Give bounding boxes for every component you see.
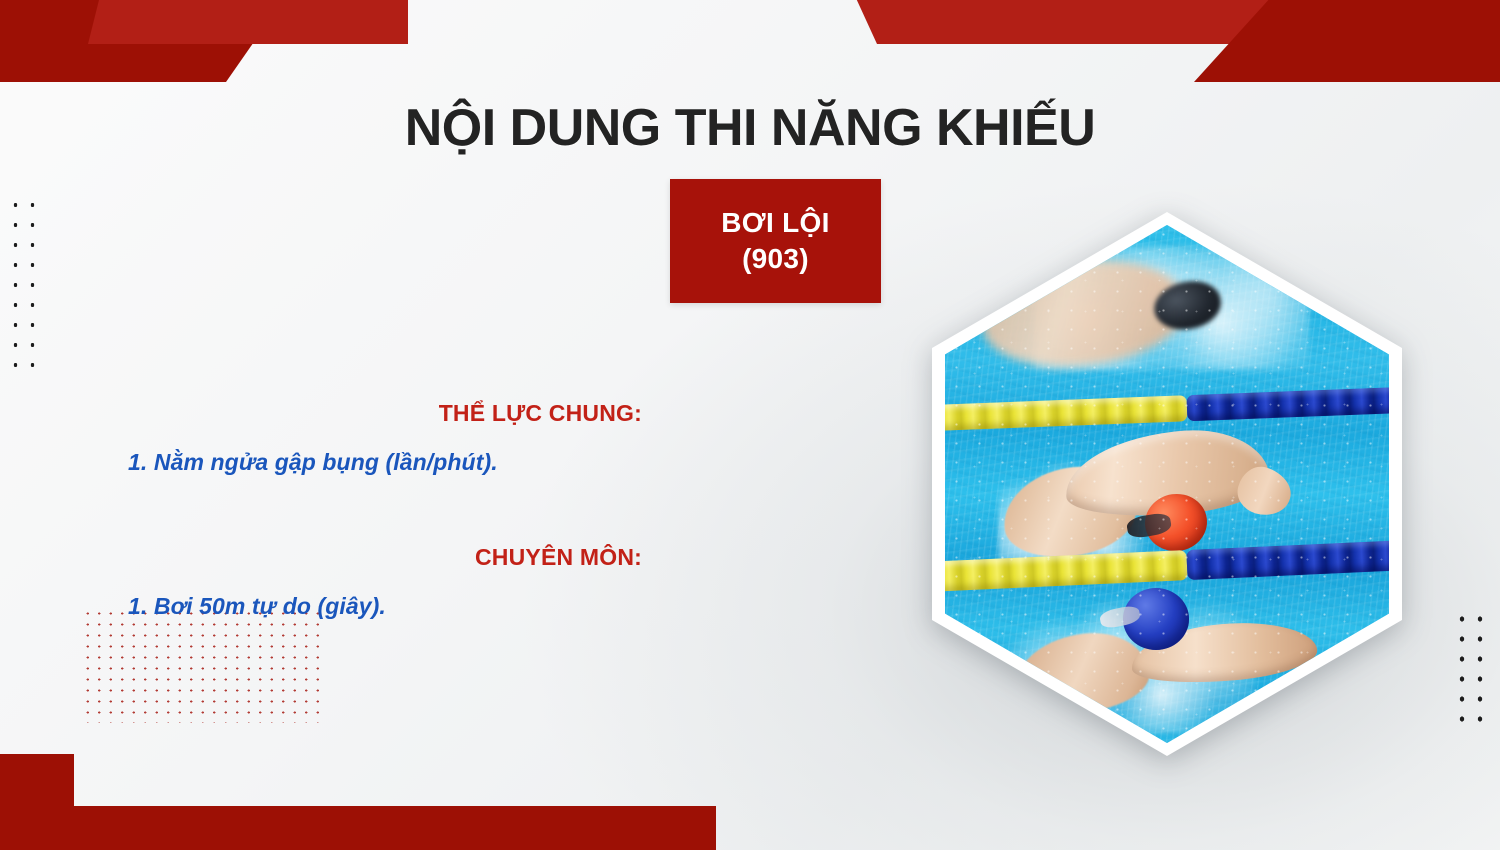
section-spacer <box>100 476 660 544</box>
slide-root: NỘI DUNG THI NĂNG KHIẾU BƠI LỘI (903) TH… <box>0 0 1500 850</box>
corner-shape-top-left-dark <box>0 0 286 82</box>
badge-sport-label: BƠI LỘI <box>721 207 829 239</box>
content-column: THỂ LỰC CHUNG: 1. Nằm ngửa gập bụng (lần… <box>100 400 660 620</box>
corner-shape-bottom-left-dark <box>0 754 716 850</box>
corner-shape-top-right-bright <box>855 0 1315 44</box>
dot-grid-left <box>4 192 36 378</box>
badge-code-label: (903) <box>742 243 809 275</box>
dot-grid-red-bottom-left <box>80 606 322 723</box>
list-item: 1. Nằm ngửa gập bụng (lần/phút). <box>100 449 660 476</box>
corner-shape-top-right-dark <box>1194 0 1500 82</box>
section-heading-specialty: CHUYÊN MÔN: <box>100 544 660 571</box>
corner-shape-top-left-bright <box>88 0 408 44</box>
list-item: 1. Bơi 50m tự do (giây). <box>100 593 660 620</box>
status-badge: BƠI LỘI (903) <box>670 179 881 303</box>
page-title: NỘI DUNG THI NĂNG KHIẾU <box>0 98 1500 158</box>
dot-grid-right <box>1450 606 1488 726</box>
hexagon-photo-frame <box>932 212 1402 756</box>
section-heading-general-fitness: THỂ LỰC CHUNG: <box>100 400 660 427</box>
